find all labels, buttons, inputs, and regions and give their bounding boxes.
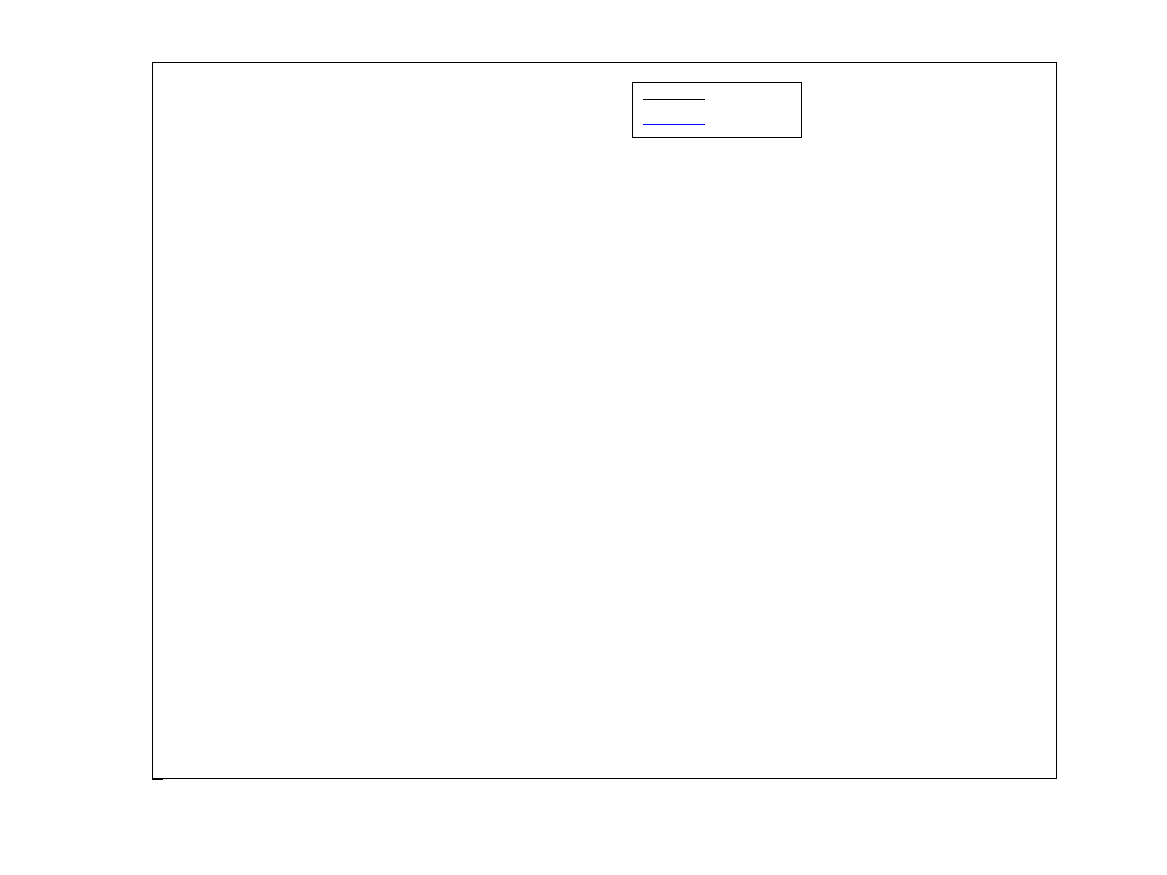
legend-entry-forecast (633, 112, 801, 137)
legend-entry-buoy (633, 87, 801, 112)
legend-line-icon-forecast (643, 124, 705, 125)
legend (632, 82, 802, 138)
chart-canvas (153, 63, 1058, 780)
y-axis-tick-labels (96, 0, 142, 875)
chart-page (0, 0, 1167, 875)
plot-area (152, 62, 1057, 779)
legend-line-icon-buoy (643, 99, 705, 100)
